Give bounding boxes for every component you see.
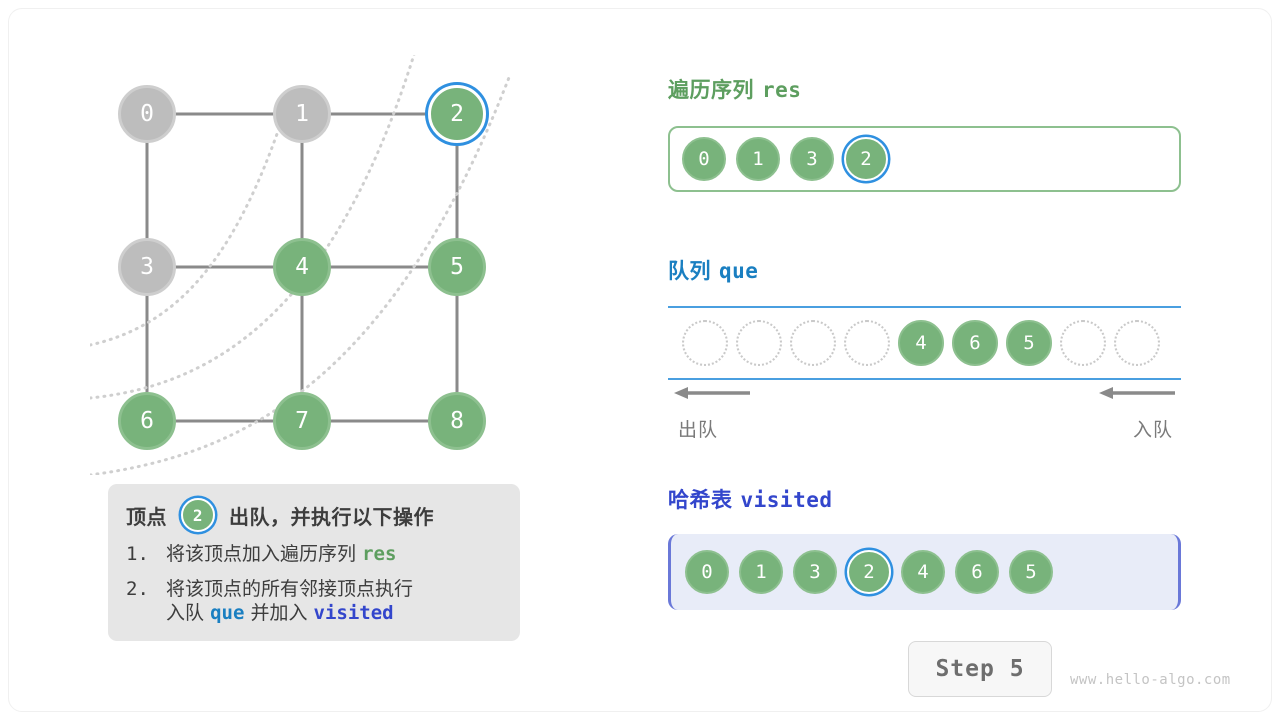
caption-headline: 顶点 2 出队，并执行以下操作 <box>126 498 502 532</box>
visited-cell-1: 1 <box>739 550 783 594</box>
res-cell-2: 3 <box>790 137 834 181</box>
graph-panel: 012345678 <box>90 55 540 475</box>
graph-node-7[interactable]: 7 <box>273 392 331 450</box>
state-panel: 遍历序列res 0132 队列que 465 出队 入队 <box>666 0 1226 720</box>
res-cell-0: 0 <box>682 137 726 181</box>
watermark: www.hello-algo.com <box>1070 672 1231 688</box>
queue-cell-2 <box>790 320 836 366</box>
graph-node-1[interactable]: 1 <box>273 85 331 143</box>
caption-step-2-number: 2. <box>126 578 166 626</box>
caption-step-2-mid: 并加入 <box>250 602 307 624</box>
res-container: 0132 <box>668 126 1181 192</box>
caption-step-2-text: 将该顶点的所有邻接顶点执行 入队 que 并加入 visited <box>166 578 502 626</box>
graph-node-4[interactable]: 4 <box>273 238 331 296</box>
res-title-code: res <box>762 78 801 102</box>
queue-section-title: 队列que <box>668 255 758 285</box>
visited-cell-6: 5 <box>1009 550 1053 594</box>
caption-step-1-label: 将该顶点加入遍历序列 <box>166 543 356 565</box>
queue-cell-1 <box>736 320 782 366</box>
queue-title-code: que <box>719 259 758 283</box>
caption-node-badge: 2 <box>181 498 215 532</box>
queue-cell-6: 5 <box>1006 320 1052 366</box>
queue-cell-3 <box>844 320 890 366</box>
res-section-title: 遍历序列res <box>668 74 801 104</box>
queue-direction-row: 出队 入队 <box>668 385 1181 441</box>
caption-step-1-code: res <box>362 543 396 565</box>
caption-step-2: 2. 将该顶点的所有邻接顶点执行 入队 que 并加入 visited <box>126 578 502 626</box>
res-cell-1: 1 <box>736 137 780 181</box>
queue-cell-5: 6 <box>952 320 998 366</box>
operation-caption-box: 顶点 2 出队，并执行以下操作 1. 将该顶点加入遍历序列 res 2. 将该顶… <box>108 484 520 641</box>
visited-title-code: visited <box>741 488 833 512</box>
visited-container: 0132465 <box>668 534 1181 610</box>
enqueue-group: 入队 <box>1077 385 1177 442</box>
res-title-cn: 遍历序列 <box>668 78 754 102</box>
caption-step-1: 1. 将该顶点加入遍历序列 res <box>126 543 502 567</box>
visited-cell-5: 6 <box>955 550 999 594</box>
enqueue-arrow-icon <box>1097 385 1177 401</box>
graph-node-8[interactable]: 8 <box>428 392 486 450</box>
bfs-level-curve-1 <box>90 95 290 345</box>
caption-head-suffix: 出队，并执行以下操作 <box>229 501 434 530</box>
visited-cell-0: 0 <box>685 550 729 594</box>
caption-step-1-number: 1. <box>126 543 166 567</box>
graph-node-5[interactable]: 5 <box>428 238 486 296</box>
dequeue-label: 出队 <box>672 415 772 442</box>
visited-cell-4: 4 <box>901 550 945 594</box>
queue-cell-0 <box>682 320 728 366</box>
graph-node-6[interactable]: 6 <box>118 392 176 450</box>
caption-step-2-pre: 入队 <box>166 602 204 624</box>
graph-node-2[interactable]: 2 <box>428 85 486 143</box>
caption-head-prefix: 顶点 <box>126 501 167 530</box>
visited-section-title: 哈希表visited <box>668 484 833 514</box>
queue-cell-8 <box>1114 320 1160 366</box>
dequeue-arrow-icon <box>672 385 752 401</box>
step-badge: Step 5 <box>908 641 1052 697</box>
visited-title-cn: 哈希表 <box>668 488 733 512</box>
graph-node-3[interactable]: 3 <box>118 238 176 296</box>
queue-cell-7 <box>1060 320 1106 366</box>
caption-step-2-code-visited: visited <box>314 602 394 624</box>
caption-step-2-label: 将该顶点的所有邻接顶点执行 <box>166 578 413 600</box>
queue-container: 465 <box>668 306 1181 380</box>
res-cell-3: 2 <box>844 137 888 181</box>
caption-step-2-code-que: que <box>210 602 244 624</box>
visited-cell-3: 2 <box>847 550 891 594</box>
graph-node-0[interactable]: 0 <box>118 85 176 143</box>
enqueue-label: 入队 <box>1077 415 1177 442</box>
queue-cell-4: 4 <box>898 320 944 366</box>
queue-title-cn: 队列 <box>668 259 711 283</box>
visited-cell-2: 3 <box>793 550 837 594</box>
dequeue-group: 出队 <box>672 385 772 442</box>
caption-step-1-text: 将该顶点加入遍历序列 res <box>166 543 502 567</box>
slide-canvas: 012345678 顶点 2 出队，并执行以下操作 1. 将该顶点加入遍历序列 … <box>0 0 1280 720</box>
